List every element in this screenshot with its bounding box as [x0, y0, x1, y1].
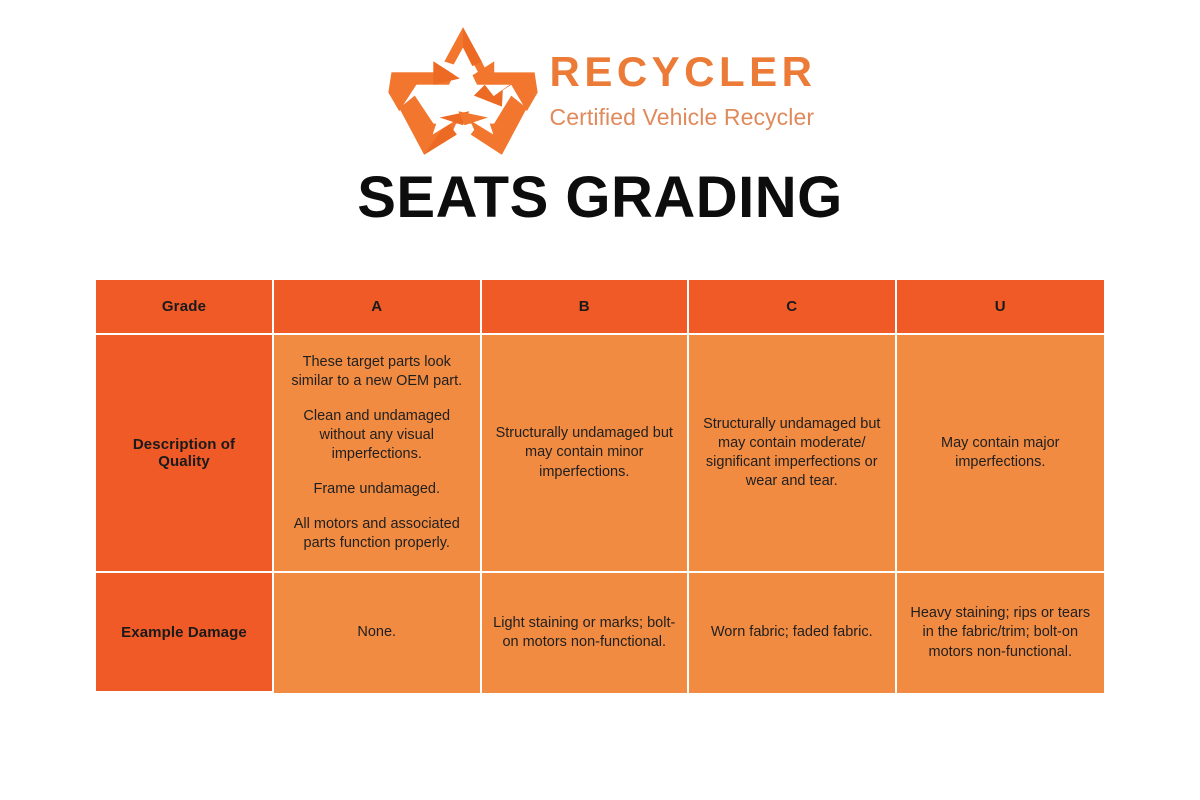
cell-paragraph: Structurally undamaged but may contain m… — [492, 424, 678, 481]
cell-description-u: May contain major imperfections. — [897, 335, 1105, 573]
cell-example-c: Worn fabric; faded fabric. — [689, 573, 897, 693]
table-header: Grade A B C U — [96, 280, 1104, 335]
cell-paragraph: Light staining or marks; bolt-on motors … — [492, 614, 678, 652]
logo-wordmark: RECYCLER — [549, 51, 816, 93]
logo-tagline: Certified Vehicle Recycler — [549, 106, 816, 129]
cell-paragraph: May contain major imperfections. — [907, 434, 1095, 472]
cell-description-c: Structurally undamaged but may contain m… — [689, 335, 897, 573]
grading-table: Grade A B C U Description of Quality The… — [96, 280, 1104, 693]
cell-paragraph: Heavy staining; rips or tears in the fab… — [907, 604, 1095, 661]
cell-paragraph: All motors and associated parts function… — [284, 515, 470, 553]
cell-paragraph: Worn fabric; faded fabric. — [699, 623, 885, 642]
cell-paragraph: These target parts look similar to a new… — [284, 353, 470, 391]
cell-paragraph: Structurally undamaged but may contain m… — [699, 415, 885, 492]
logo: RECYCLER Certified Vehicle Recycler — [383, 21, 816, 161]
header-cell-grade-b: B — [482, 280, 690, 335]
table-row: Description of Quality These target part… — [96, 335, 1104, 573]
cell-example-b: Light staining or marks; bolt-on motors … — [482, 573, 690, 693]
cell-example-a: None. — [274, 573, 482, 693]
page-title: SEATS GRADING — [0, 160, 1200, 236]
row-label-example-damage: Example Damage — [96, 573, 274, 693]
logo-block: RECYCLER Certified Vehicle Recycler — [0, 0, 1200, 160]
cell-description-b: Structurally undamaged but may contain m… — [482, 335, 690, 573]
cell-paragraph: None. — [284, 623, 470, 642]
grading-table-container: Grade A B C U Description of Quality The… — [96, 280, 1104, 693]
header-cell-grade: Grade — [96, 280, 274, 335]
recycling-star-icon — [383, 21, 543, 161]
cell-description-a: These target parts look similar to a new… — [274, 335, 482, 573]
header-cell-grade-a: A — [274, 280, 482, 335]
table-body: Description of Quality These target part… — [96, 335, 1104, 693]
table-header-row: Grade A B C U — [96, 280, 1104, 335]
header-cell-grade-u: U — [897, 280, 1105, 335]
row-label-description-of-quality: Description of Quality — [96, 335, 274, 573]
cell-paragraph: Clean and undamaged without any visual i… — [284, 407, 470, 464]
header-cell-grade-c: C — [689, 280, 897, 335]
logo-text: RECYCLER Certified Vehicle Recycler — [549, 51, 816, 131]
cell-paragraph: Frame undamaged. — [284, 480, 470, 499]
cell-example-u: Heavy staining; rips or tears in the fab… — [897, 573, 1105, 693]
table-row: Example Damage None. Light staining or m… — [96, 573, 1104, 693]
